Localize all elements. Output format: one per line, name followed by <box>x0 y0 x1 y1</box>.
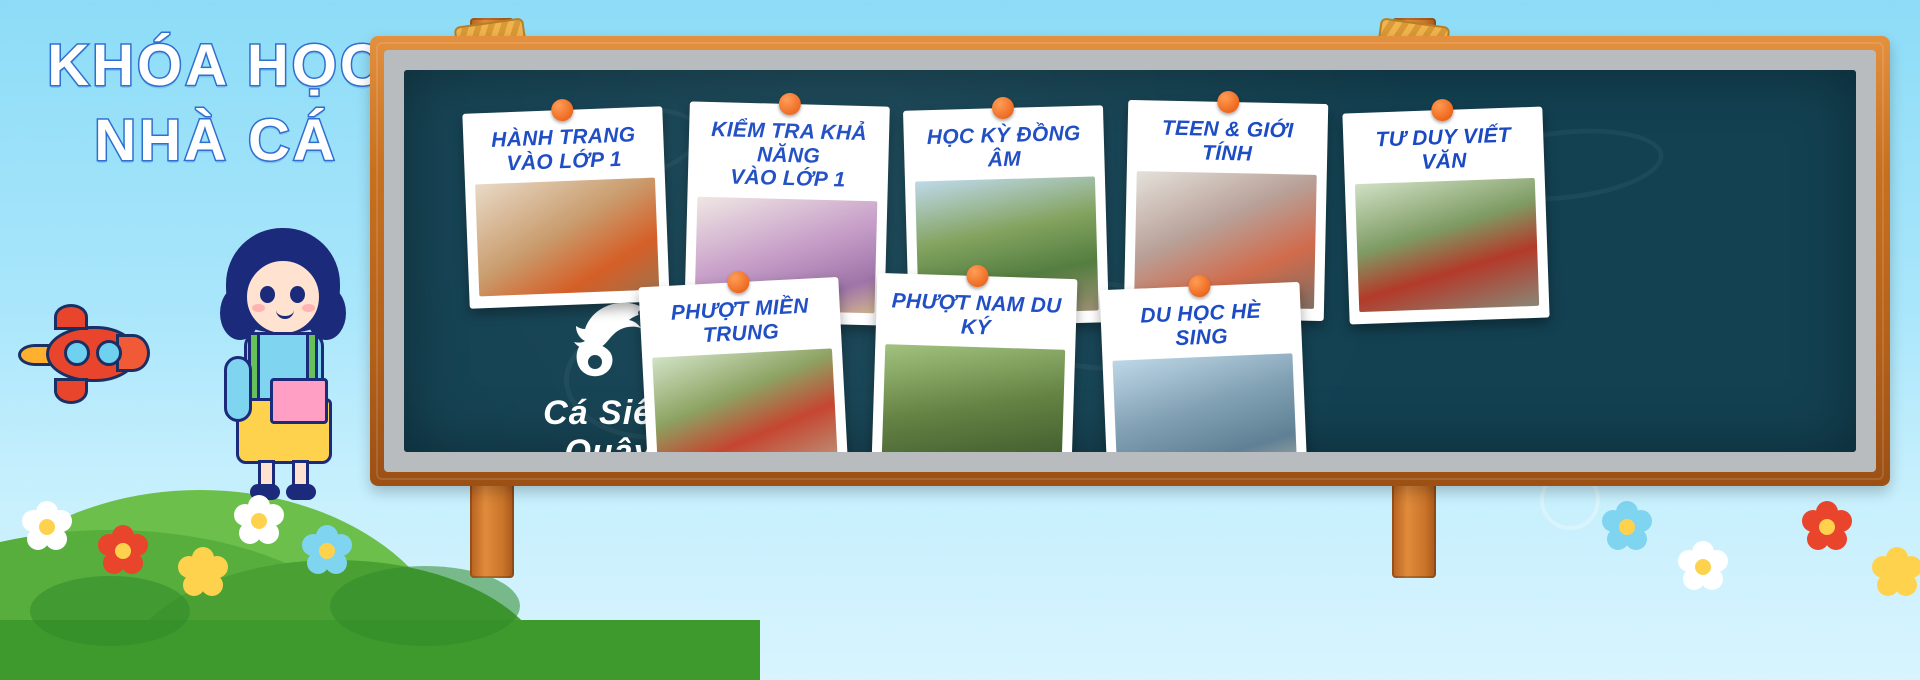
daisy-flower-icon <box>176 546 230 600</box>
pin-icon <box>1431 99 1454 122</box>
course-photo <box>475 178 659 297</box>
course-title: HÀNH TRANG VÀO LỚP 1 <box>477 123 651 177</box>
daisy-flower-icon <box>300 524 354 578</box>
course-card[interactable]: PHƯỢT NAM DU KÝ <box>871 273 1078 452</box>
course-title: TƯ DUY VIẾT VĂN <box>1357 123 1531 176</box>
course-card[interactable]: HỌC KỲ ĐỒNG ÂM <box>903 105 1109 328</box>
dolphin-icon <box>499 285 719 390</box>
course-title: TEEN & GIỚI TÍNH <box>1141 116 1314 167</box>
pin-icon <box>992 97 1015 120</box>
course-photo <box>1134 171 1317 309</box>
pin-icon <box>551 99 574 122</box>
chalkboard-surface: Cá Siêu Quậy Vì sự trưởng thành của trẻ … <box>404 70 1856 452</box>
pin-icon <box>779 93 802 116</box>
pin-icon <box>1217 91 1239 113</box>
daisy-flower-icon <box>20 500 74 554</box>
course-photo <box>881 344 1065 452</box>
course-title: PHƯỢT MIỀN TRUNG <box>653 294 827 350</box>
course-photo <box>1113 353 1298 452</box>
girl-student-character <box>218 228 348 498</box>
daisy-flower-icon <box>1600 500 1654 554</box>
course-photo <box>652 348 839 452</box>
course-title: HỌC KỲ ĐỒNG ÂM <box>917 122 1090 174</box>
board-inner-border: Cá Siêu Quậy Vì sự trưởng thành của trẻ … <box>384 50 1876 472</box>
course-photo <box>694 196 877 313</box>
course-photo <box>1355 178 1539 312</box>
course-card[interactable]: TƯ DUY VIẾT VĂN <box>1342 107 1549 325</box>
board-frame: Cá Siêu Quậy Vì sự trưởng thành của trẻ … <box>370 36 1890 486</box>
course-card[interactable]: KIỂM TRA KHẢ NĂNG VÀO LỚP 1 <box>684 101 890 325</box>
pin-icon <box>727 271 750 294</box>
daisy-flower-icon <box>1800 500 1854 554</box>
pin-icon <box>966 265 989 288</box>
rocket-icon <box>20 300 150 410</box>
course-card[interactable]: TEEN & GIỚI TÍNH <box>1124 100 1329 321</box>
course-title: PHƯỢT NAM DU KÝ <box>890 289 1063 341</box>
course-title: KIỂM TRA KHẢ NĂNG VÀO LỚP 1 <box>702 118 876 193</box>
daisy-flower-icon <box>1870 546 1920 600</box>
headline-line-2: NHÀ CÁ <box>36 111 396 172</box>
course-photo <box>915 177 1099 316</box>
headline-line-1: KHÓA HỌC <box>36 36 396 97</box>
bush <box>30 576 190 646</box>
daisy-flower-icon <box>96 524 150 578</box>
course-title: DU HỌC HÈ SING <box>1114 298 1288 352</box>
daisy-flower-icon <box>1676 540 1730 594</box>
notice-board: Cá Siêu Quậy Vì sự trưởng thành của trẻ … <box>370 18 1890 488</box>
banner-stage: KHÓA HỌC NHÀ CÁ <box>0 0 1920 680</box>
brand-logo: Cá Siêu Quậy Vì sự trưởng thành của trẻ <box>499 285 719 452</box>
brand-name: Cá Siêu Quậy <box>499 394 719 452</box>
page-title: KHÓA HỌC NHÀ CÁ <box>36 36 396 172</box>
daisy-flower-icon <box>232 494 286 548</box>
course-card[interactable]: HÀNH TRANG VÀO LỚP 1 <box>462 106 669 309</box>
course-card[interactable]: PHƯỢT MIỀN TRUNG <box>638 277 849 452</box>
pin-icon <box>1188 275 1211 298</box>
bush <box>330 566 520 646</box>
course-card[interactable]: DU HỌC HÈ SING <box>1100 282 1309 452</box>
